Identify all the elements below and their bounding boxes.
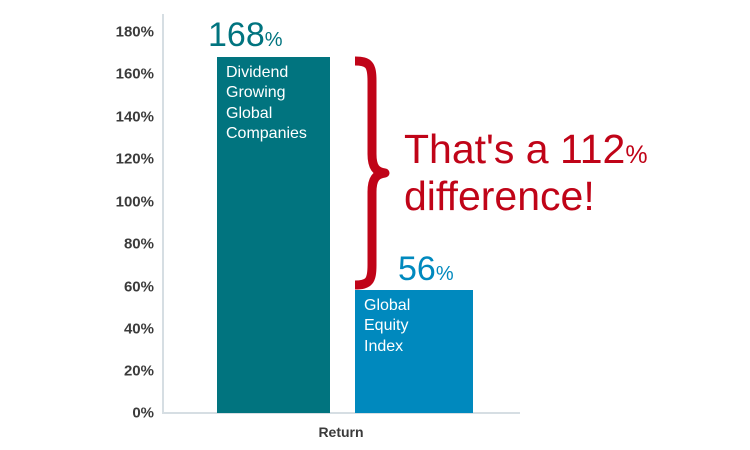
y-tick-100: 100% xyxy=(80,195,154,210)
bar-value-label-global-equity-index: 56% xyxy=(398,252,454,286)
y-tick-160: 160% xyxy=(80,67,154,82)
y-tick-40: 40% xyxy=(80,322,154,337)
y-tick-120: 120% xyxy=(80,152,154,167)
bar-value-number: 56 xyxy=(398,250,436,288)
y-tick-0: 0% xyxy=(80,406,154,421)
bar-dividend-growing-global-companies[interactable]: Dividend Growing Global Companies xyxy=(217,57,330,413)
bar-label-global-equity-index: Global Equity Index xyxy=(364,296,469,357)
y-axis-tick-labels: 180% 160% 140% 120% 100% 80% 60% 40% 20%… xyxy=(80,0,154,450)
bar-value-label-dividend-growing-global-companies: 168% xyxy=(208,18,283,52)
y-tick-180: 180% xyxy=(80,25,154,40)
difference-callout-line2: difference! xyxy=(404,173,648,220)
difference-callout: That's a 112% difference! xyxy=(404,126,648,219)
bar-label-dividend-growing-global-companies: Dividend Growing Global Companies xyxy=(226,63,326,145)
callout-percent: % xyxy=(625,141,647,169)
bar-global-equity-index[interactable]: Global Equity Index xyxy=(355,290,473,413)
y-tick-60: 60% xyxy=(80,280,154,295)
bar-value-percent: % xyxy=(265,29,283,51)
x-axis-title: Return xyxy=(162,424,520,440)
curly-brace-icon xyxy=(352,54,392,292)
difference-callout-line1: That's a 112% xyxy=(404,126,648,173)
y-tick-20: 20% xyxy=(80,364,154,379)
bar-value-percent: % xyxy=(436,263,454,285)
callout-number: 112 xyxy=(560,126,625,172)
callout-prefix: That's a xyxy=(404,126,560,172)
y-tick-140: 140% xyxy=(80,110,154,125)
y-tick-80: 80% xyxy=(80,237,154,252)
bar-value-number: 168 xyxy=(208,16,265,54)
y-axis-line xyxy=(162,14,164,413)
bar-chart: 180% 160% 140% 120% 100% 80% 60% 40% 20%… xyxy=(0,0,750,450)
